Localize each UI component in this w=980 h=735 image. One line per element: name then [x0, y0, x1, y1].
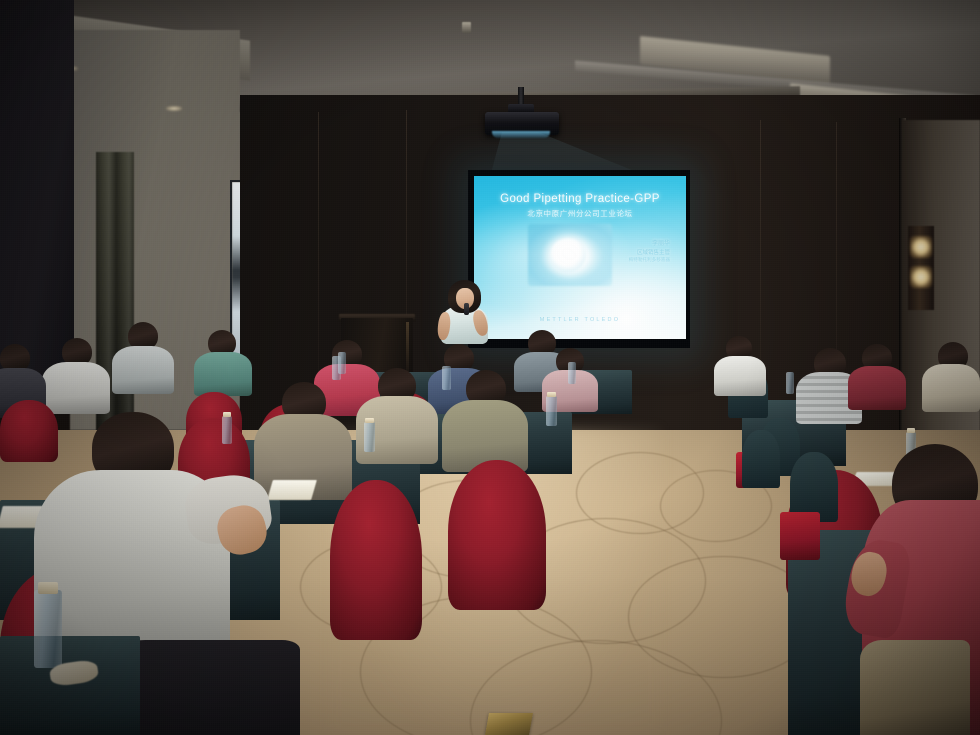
attendee-torso — [42, 362, 110, 414]
water-bottle-icon — [364, 422, 375, 452]
microphone-icon — [464, 303, 469, 315]
water-bottle-icon — [786, 372, 794, 394]
chair-seat — [780, 512, 820, 560]
attendee-trousers — [860, 640, 970, 735]
chair-row — [330, 480, 422, 640]
recessed-downlight-icon — [166, 106, 182, 111]
slide-presenter-org: 梅特勒托利多移液器 — [629, 257, 670, 263]
water-bottle-icon — [34, 590, 62, 668]
attendee-torso — [194, 352, 252, 396]
floor-access-plate — [485, 713, 533, 735]
slide-title: Good Pipetting Practice-GPP — [474, 193, 686, 205]
attendee-lap — [120, 640, 300, 735]
wall-panel-seam — [318, 112, 319, 412]
table-row — [0, 636, 140, 735]
attendee-torso — [848, 366, 906, 410]
attendee-torso — [112, 346, 174, 394]
lectern-edge-highlight — [406, 322, 409, 374]
water-bottle-icon — [442, 366, 451, 390]
bottle-cap — [223, 412, 231, 417]
slide-brand-logo: METTLER TOLEDO — [474, 317, 686, 323]
projection-screen[interactable]: Good Pipetting Practice-GPP 北京中原广州分公司工业论… — [474, 176, 686, 339]
water-bottle-icon — [546, 396, 557, 426]
bottle-cap — [547, 392, 556, 397]
bottle-cap — [907, 428, 915, 433]
chair-row — [0, 400, 58, 462]
bottle-cap — [38, 582, 58, 594]
left-structural-column — [0, 0, 74, 400]
attendee-torso — [922, 364, 980, 412]
sprinkler-icon — [462, 22, 471, 33]
slide-presenter-name: 李丽华 — [652, 238, 670, 247]
conference-room-photo: Good Pipetting Practice-GPP 北京中原广州分公司工业论… — [0, 0, 980, 735]
notepad — [267, 480, 317, 500]
slide-presenter-role: 区域销售主管 — [637, 248, 670, 256]
slide-subtitle: 北京中原广州分公司工业论坛 — [474, 208, 686, 219]
water-bottle-icon — [568, 362, 576, 384]
water-bottle-icon — [338, 352, 346, 374]
slide-product-image — [528, 224, 612, 286]
wall-lamp-icon — [910, 236, 932, 258]
wall-lamp-icon — [910, 266, 932, 288]
chair-cover — [742, 430, 780, 488]
bottle-cap — [365, 418, 374, 423]
attendee-torso — [714, 356, 766, 396]
chair-row — [448, 460, 546, 610]
water-bottle-icon — [222, 416, 232, 444]
